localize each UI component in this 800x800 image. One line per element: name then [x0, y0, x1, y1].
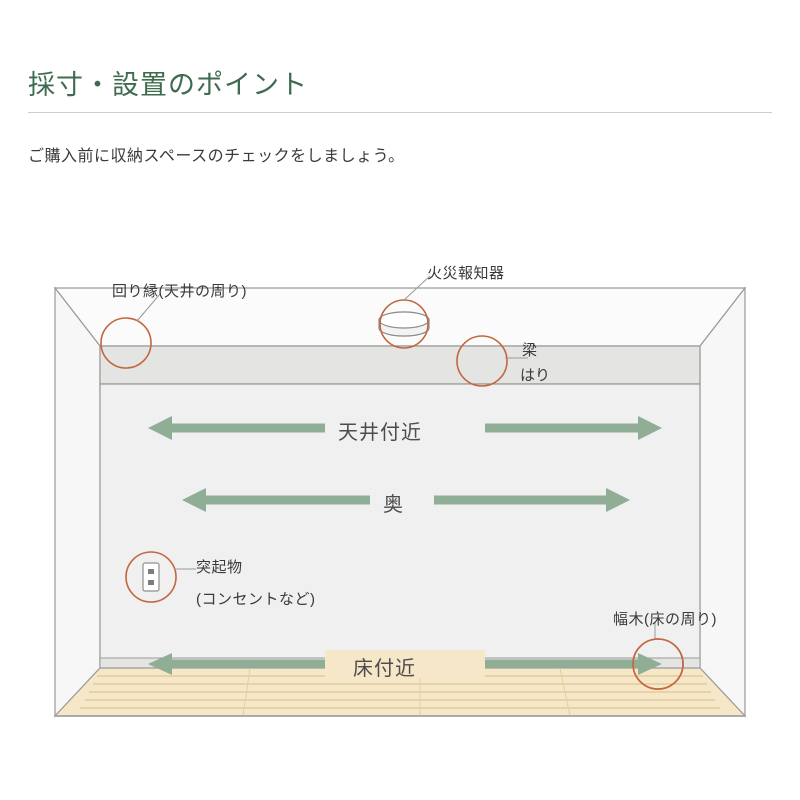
- page-subtitle: ご購入前に収納スペースのチェックをしましょう。: [28, 142, 405, 166]
- left-side-wall: [55, 288, 100, 716]
- title-divider: [28, 112, 772, 113]
- fire-alarm-icon: [379, 312, 429, 336]
- callout-beam-line1: 梁: [522, 341, 537, 360]
- page-title: 採寸・設置のポイント: [28, 63, 308, 102]
- arrow-label-near-floor: 床付近: [353, 652, 416, 681]
- callout-protrusion-line1: 突起物: [196, 556, 243, 577]
- right-side-wall: [700, 288, 745, 716]
- callout-fire-alarm: 火災報知器: [427, 262, 505, 283]
- page-root: 採寸・設置のポイント ご購入前に収納スペースのチェックをしましょう。: [0, 0, 800, 800]
- callout-baseboard: 幅木(床の周り): [613, 608, 717, 629]
- outlet-icon: [143, 563, 159, 591]
- callout-beam-line2: はり: [520, 366, 550, 385]
- callout-crown-molding: 回り縁(天井の周り): [112, 280, 247, 301]
- room-measurement-diagram: 回り縁(天井の周り) 火災報知器 梁 はり 突起物 (コンセントなど) 幅木(床…: [0, 236, 800, 776]
- arrow-label-depth: 奥: [383, 488, 404, 517]
- arrow-label-near-ceiling: 天井付近: [338, 416, 422, 445]
- crown-molding-band: [100, 346, 700, 384]
- callout-protrusion-line2: (コンセントなど): [196, 588, 316, 609]
